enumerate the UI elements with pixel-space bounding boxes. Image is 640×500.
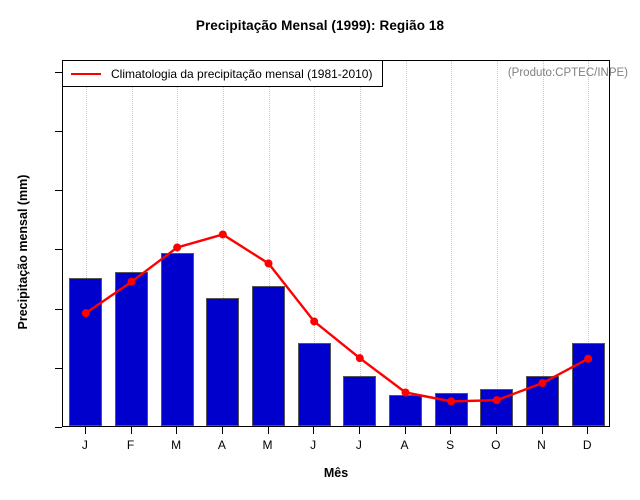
x-tick	[450, 427, 451, 434]
legend: Climatologia da precipitação mensal (198…	[62, 60, 383, 87]
x-tick	[313, 427, 314, 434]
x-axis-title: Mês	[62, 466, 610, 480]
x-tick-label-2: M	[156, 438, 196, 452]
gridline-vertical	[497, 61, 498, 426]
x-tick-label-8: S	[430, 438, 470, 452]
source-annotation: (Produto:CPTEC/INPE)	[508, 67, 628, 79]
y-tick	[55, 309, 62, 310]
x-tick	[85, 427, 86, 434]
y-tick	[55, 368, 62, 369]
x-tick	[587, 427, 588, 434]
bar-a-3	[206, 298, 239, 426]
gridline-vertical	[360, 61, 361, 426]
x-tick-label-3: A	[202, 438, 242, 452]
y-tick	[55, 190, 62, 191]
bar-j-0	[69, 278, 102, 426]
bar-m-4	[252, 286, 285, 426]
x-tick-label-11: D	[567, 438, 607, 452]
plot-area	[62, 60, 610, 427]
bar-s-8	[435, 393, 468, 426]
gridline-vertical	[543, 61, 544, 426]
x-tick-label-7: A	[385, 438, 425, 452]
x-tick-label-1: F	[111, 438, 151, 452]
y-tick	[55, 427, 62, 428]
x-tick-label-5: J	[293, 438, 333, 452]
bar-a-7	[389, 395, 422, 426]
y-axis-title: Precipitação mensal (mm)	[16, 122, 30, 382]
x-tick-label-4: M	[248, 438, 288, 452]
y-tick	[55, 72, 62, 73]
bar-f-1	[115, 272, 148, 426]
x-tick	[222, 427, 223, 434]
bar-d-11	[572, 343, 605, 426]
x-tick	[268, 427, 269, 434]
plot-inner	[63, 61, 609, 426]
bar-o-9	[480, 389, 513, 426]
x-tick	[176, 427, 177, 434]
y-tick	[55, 249, 62, 250]
x-tick	[542, 427, 543, 434]
x-tick	[405, 427, 406, 434]
legend-line-swatch	[71, 73, 101, 75]
x-tick-label-10: N	[522, 438, 562, 452]
legend-label-climatology: Climatologia da precipitação mensal (198…	[111, 67, 372, 81]
x-tick	[496, 427, 497, 434]
bar-j-6	[343, 376, 376, 426]
chart-title: Precipitação Mensal (1999): Região 18	[0, 18, 640, 33]
x-tick	[359, 427, 360, 434]
x-tick-label-0: J	[65, 438, 105, 452]
bar-n-10	[526, 376, 559, 426]
bar-j-5	[298, 343, 331, 426]
gridline-vertical	[406, 61, 407, 426]
bar-m-2	[161, 253, 194, 426]
x-tick-label-6: J	[339, 438, 379, 452]
gridline-vertical	[451, 61, 452, 426]
x-tick	[131, 427, 132, 434]
y-tick	[55, 131, 62, 132]
precipitation-chart: Precipitação Mensal (1999): Região 18 Pr…	[0, 0, 640, 500]
x-tick-label-9: O	[476, 438, 516, 452]
